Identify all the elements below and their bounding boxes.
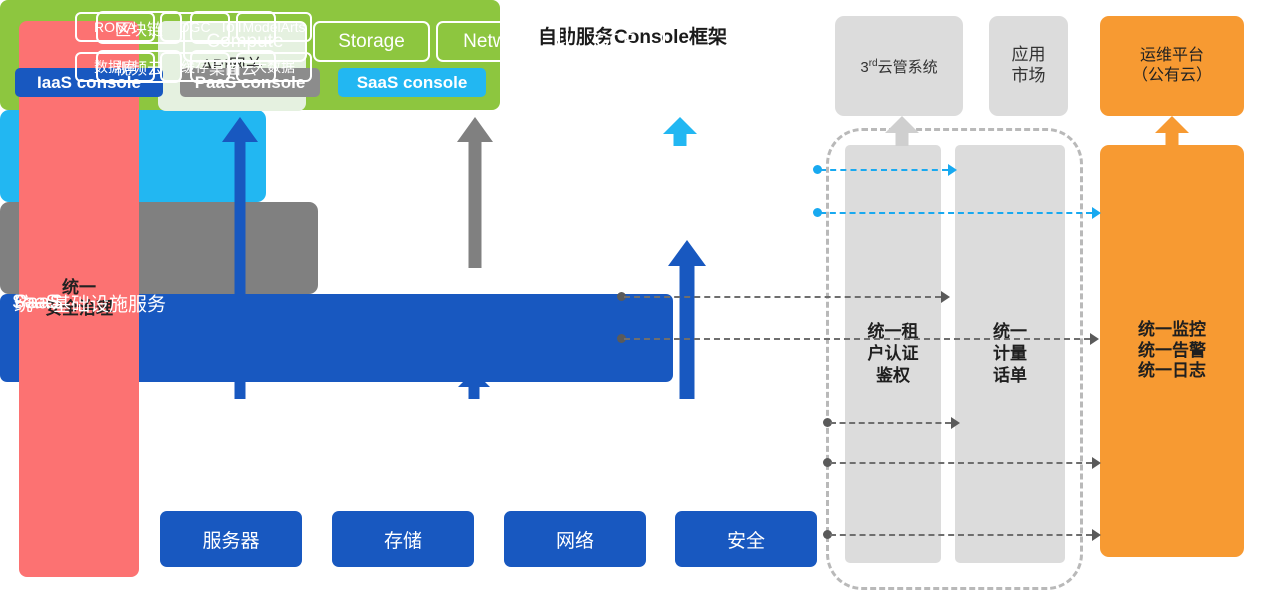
arrow-iaas-to-api-gateway — [222, 117, 258, 399]
connector-arrowhead-iaas-auth — [951, 417, 960, 429]
arrow-saas-to-console — [662, 117, 698, 146]
connector-arrowhead-saas-auth — [948, 164, 957, 176]
arrow-iaas-to-saas — [668, 240, 706, 399]
connector-arrowhead-paas-ops — [1090, 333, 1099, 345]
console-chip-saas[interactable]: SaaS console — [338, 68, 486, 97]
shared-service-auth-column: 统一租 户认证 鉴权 — [845, 145, 941, 563]
shared-service-metering-column: 统一 计量 话单 — [955, 145, 1065, 563]
iaas-item-network[interactable]: Network — [436, 21, 560, 62]
connector-iaas-to-auth — [830, 422, 951, 424]
connector-arrowhead-saas-ops — [1092, 207, 1101, 219]
connector-arrowhead-hardware-ops — [1092, 529, 1101, 541]
iaas-item-cce[interactable]: CCE — [566, 21, 665, 62]
connector-paas-to-auth — [624, 296, 941, 298]
iaas-item-storage[interactable]: Storage — [313, 21, 430, 62]
hardware-item-storage[interactable]: 存储 — [332, 511, 474, 567]
iaas-item-compute[interactable]: Compute — [183, 21, 307, 62]
hardware-item-network[interactable]: 网络 — [504, 511, 646, 567]
arrow-to-ops-platform — [1154, 116, 1190, 146]
connector-arrowhead-paas-auth — [941, 291, 950, 303]
connector-arrowhead-iaas-ops — [1092, 457, 1101, 469]
app-market-box: 应用 市场 — [989, 16, 1068, 116]
connector-paas-to-ops — [624, 338, 1090, 340]
arrow-shared-to-third-party — [884, 116, 920, 146]
connector-saas-to-ops — [820, 212, 1092, 214]
connector-hardware-to-ops — [830, 534, 1092, 536]
third-party-cloud-mgmt-label: 3rd云管系统 — [860, 56, 937, 77]
app-market-label: 应用 市场 — [1012, 45, 1046, 86]
unified-monitoring-label: 统一监控 统一告警 统一日志 — [1138, 320, 1206, 382]
paas-item-roma[interactable]: ROMA — [75, 12, 155, 42]
unified-monitoring-panel: 统一监控 统一告警 统一日志 — [1100, 145, 1244, 557]
arrow-paas-to-console — [457, 117, 493, 268]
connector-saas-to-auth — [820, 169, 948, 171]
connector-iaas-to-ops — [830, 462, 1092, 464]
paas-item-database[interactable]: 数据库 — [75, 52, 155, 82]
architecture-diagram: 统一 安全治理 API网关 自助服务Console框架 IaaS console… — [0, 0, 1265, 605]
unified-infrastructure-title: 统一基础设施服务 — [14, 289, 166, 316]
ops-platform-public-cloud-box: 运维平台 （公有云） — [1100, 16, 1244, 116]
hardware-item-server[interactable]: 服务器 — [160, 511, 302, 567]
ops-platform-public-cloud-label: 运维平台 （公有云） — [1132, 46, 1212, 85]
third-party-cloud-mgmt-box: 3rd云管系统 — [835, 16, 963, 116]
arrow-iaas-to-paas — [458, 371, 490, 399]
hardware-item-security[interactable]: 安全 — [675, 511, 817, 567]
